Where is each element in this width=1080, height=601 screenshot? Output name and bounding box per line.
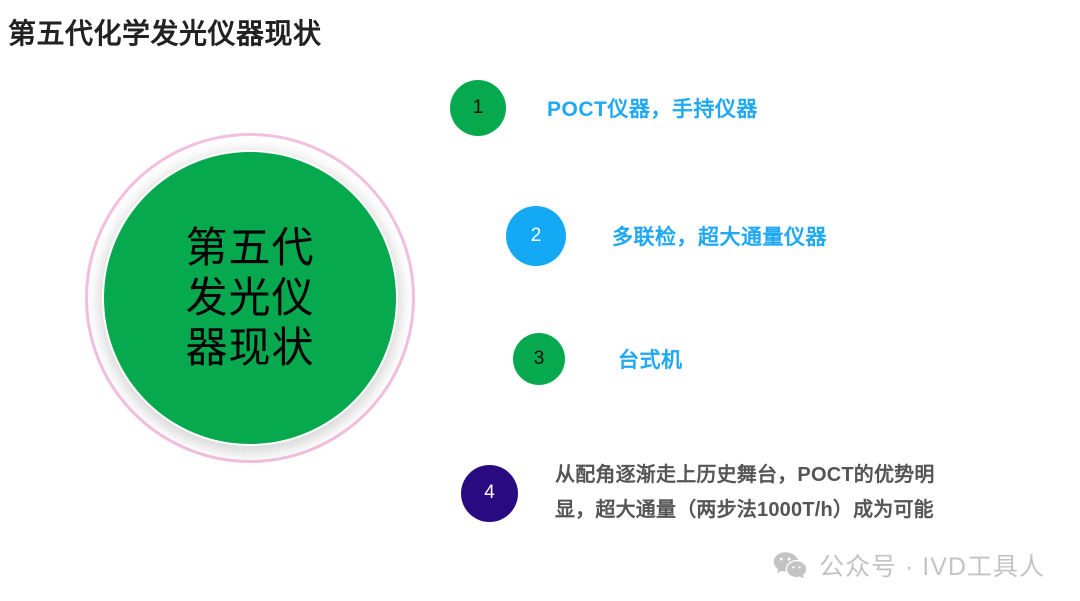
page-title: 第五代化学发光仪器现状 — [8, 12, 322, 52]
bullet-item-4: 4 从配角逐渐走上历史舞台，POCT的优势明 显，超大通量（两步法1000T/h… — [461, 458, 935, 528]
bullet-item-2: 2 多联检，超大通量仪器 — [506, 206, 827, 266]
hero-circle: 第五代 发光仪 器现状 — [104, 152, 396, 444]
watermark-text: 公众号 · IVD工具人 — [819, 547, 1045, 583]
bullet-number-badge-2: 2 — [506, 206, 566, 266]
bullet-number-badge-3: 3 — [513, 333, 565, 385]
bullet-number-badge-4: 4 — [461, 465, 518, 522]
bullet-label-3: 台式机 — [618, 344, 683, 374]
wechat-icon — [773, 551, 807, 579]
watermark: 公众号 · IVD工具人 — [773, 547, 1045, 583]
slide-canvas: 第五代化学发光仪器现状 第五代 发光仪 器现状 1 POCT仪器，手持仪器 2 … — [0, 0, 1080, 601]
bullet-item-1: 1 POCT仪器，手持仪器 — [450, 80, 758, 136]
bullet-label-2: 多联检，超大通量仪器 — [612, 221, 827, 251]
bullet-label-4: 从配角逐渐走上历史舞台，POCT的优势明 显，超大通量（两步法1000T/h）成… — [555, 458, 935, 528]
bullet-label-1: POCT仪器，手持仪器 — [547, 93, 758, 123]
bullet-item-3: 3 台式机 — [513, 333, 683, 385]
hero-circle-label: 第五代 发光仪 器现状 — [185, 223, 314, 373]
bullet-number-badge-1: 1 — [450, 80, 506, 136]
hero-circle-group: 第五代 发光仪 器现状 — [85, 133, 415, 463]
